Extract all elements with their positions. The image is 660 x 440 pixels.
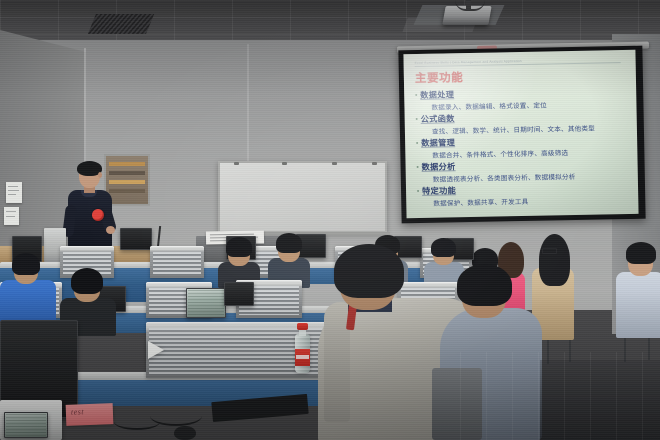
student-1 [0, 256, 56, 326]
presenter-hand [106, 226, 115, 234]
floor [460, 352, 660, 440]
bottle-label [295, 349, 310, 366]
person-hair [71, 268, 103, 294]
person-hair [12, 253, 40, 275]
projection-screen: Excel Business Skills | Data Management … [398, 46, 645, 224]
bullet-icon [417, 166, 419, 168]
wall-poster [6, 182, 22, 203]
slide-title: 主要功能 [415, 66, 627, 86]
bullet-icon [416, 118, 418, 120]
presenter-ear [98, 172, 102, 178]
presenter-instructor [62, 163, 124, 255]
foreground-monitor-on [4, 412, 48, 438]
workstation-monitor [224, 282, 254, 306]
slide-section-heading-text: 数据分析 [421, 160, 455, 173]
person-chair-4 [612, 238, 660, 338]
bullet-icon [417, 190, 419, 192]
pink-desk-label: test [66, 403, 114, 426]
person-hair [334, 244, 404, 298]
person-hair [276, 233, 302, 253]
projection-screen-surface: Excel Business Skills | Data Management … [403, 50, 638, 218]
slide-section-heading-text: 公式函数 [421, 112, 455, 125]
workstation-monitor-on [186, 288, 226, 318]
glasses-icon [542, 248, 557, 254]
cable [150, 406, 202, 426]
presentation-slide: Excel Business Skills | Data Management … [403, 50, 638, 218]
classroom-photo-scene: Excel Business Skills | Data Management … [0, 0, 660, 440]
bottle-cap-icon[interactable] [297, 323, 308, 330]
student-2 [218, 236, 260, 286]
whiteboard [218, 161, 387, 233]
slide-section-heading-text: 数据管理 [421, 136, 455, 149]
bullet-icon [415, 94, 417, 96]
person-hair [626, 242, 656, 264]
person-hair [226, 237, 252, 257]
student-3 [268, 232, 310, 286]
person-hair [457, 264, 512, 306]
person-body [616, 272, 660, 338]
pink-label-handwriting: test [71, 407, 84, 416]
paper-name-tent [148, 341, 164, 359]
presenter-shirt-logo-icon [92, 209, 104, 221]
slide-section-heading-text: 特定功能 [422, 184, 456, 197]
bullet-icon [416, 142, 418, 144]
instructor-monitor [120, 228, 152, 250]
slide-section-heading-text: 数据处理 [420, 88, 454, 101]
slide-bullet-list: 数据处理 数据录入、数据编辑、格式设置、定位 公式函数 查找、逻辑、数学、统计、… [415, 85, 629, 208]
ceiling-vent-icon [88, 14, 154, 34]
wall-poster [4, 207, 19, 225]
workstation-divider [150, 246, 204, 278]
mouse-icon[interactable] [174, 426, 196, 440]
